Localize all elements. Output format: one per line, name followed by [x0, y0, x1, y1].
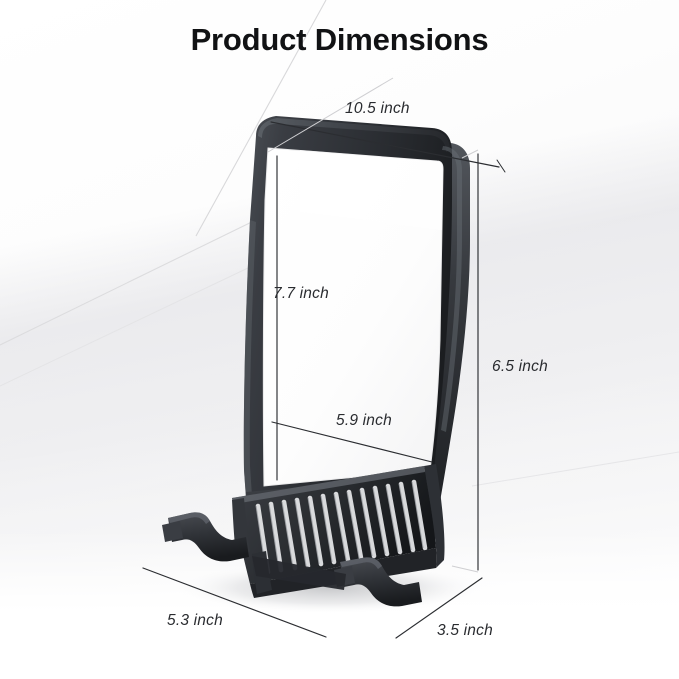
dimension-label-base-width: 5.3 inch: [167, 612, 223, 630]
product-dimensions-infographic: Product Dimensions 10.5 inch 7.7 inch 5.…: [0, 0, 679, 679]
dimension-leader-right-top: [462, 150, 478, 158]
dimension-line-top: [271, 122, 499, 167]
dimension-label-overall-height: 6.5 inch: [492, 358, 548, 376]
dimension-tick-top-right: [497, 160, 505, 172]
dimension-label-panel-width: 5.9 inch: [336, 412, 392, 430]
page-title: Product Dimensions: [0, 22, 679, 58]
dimension-leader-right-bottom: [452, 566, 478, 572]
dimension-label-top: 10.5 inch: [345, 100, 410, 118]
dimension-label-base-depth: 3.5 inch: [437, 622, 493, 640]
dimension-label-panel-height: 7.7 inch: [273, 285, 329, 303]
dimension-lines: [0, 0, 679, 679]
